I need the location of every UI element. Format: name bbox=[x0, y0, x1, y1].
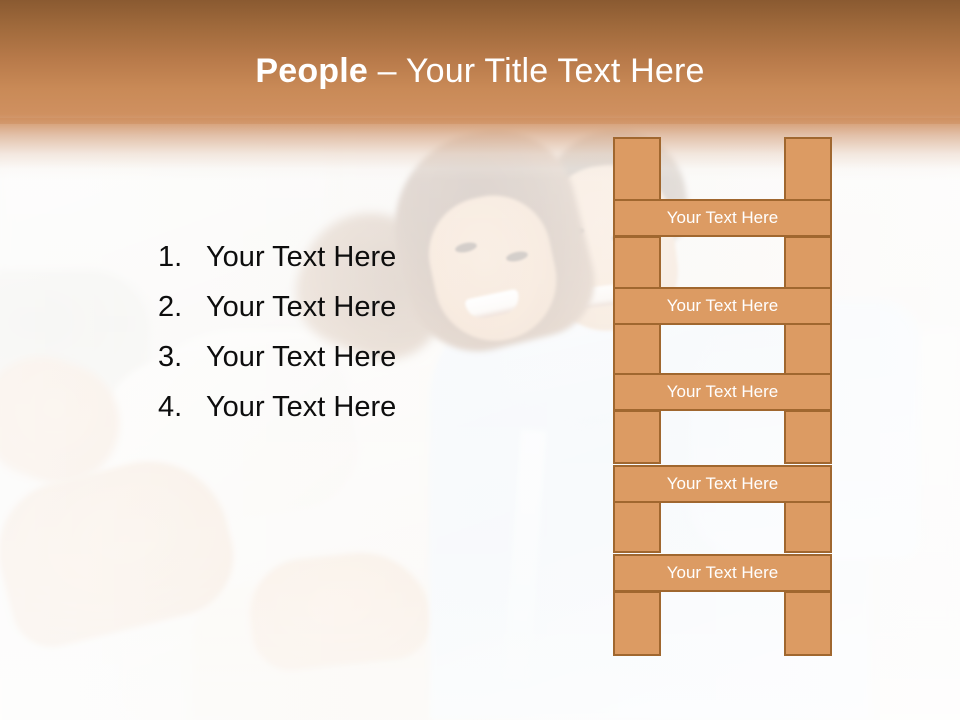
list-item-number: 2. bbox=[158, 282, 206, 332]
list-item[interactable]: 2. Your Text Here bbox=[158, 282, 488, 332]
page-title: People – Your Title Text Here bbox=[0, 50, 960, 92]
ladder-rung[interactable]: Your Text Here bbox=[613, 287, 832, 325]
ladder-rung-label: Your Text Here bbox=[667, 296, 779, 316]
ladder-rail-segment bbox=[784, 137, 832, 201]
list-item-label: Your Text Here bbox=[206, 282, 396, 332]
ladder-rung-label: Your Text Here bbox=[667, 382, 779, 402]
list-item-label: Your Text Here bbox=[206, 232, 396, 282]
ladder-diagram: Your Text Here Your Text Here Your Text … bbox=[613, 137, 832, 656]
ladder-rail-segment bbox=[613, 591, 661, 656]
slide-canvas: People – Your Title Text Here 1. Your Te… bbox=[0, 0, 960, 720]
page-title-regular: Your Title Text Here bbox=[406, 52, 705, 90]
ladder-rung[interactable]: Your Text Here bbox=[613, 465, 832, 503]
list-item-number: 4. bbox=[158, 382, 206, 432]
ladder-rail-segment bbox=[784, 410, 832, 464]
numbered-list: 1. Your Text Here 2. Your Text Here 3. Y… bbox=[158, 232, 488, 432]
page-title-separator: – bbox=[368, 52, 406, 90]
ladder-rail-segment bbox=[613, 410, 661, 464]
ladder-rail-segment bbox=[613, 501, 661, 553]
list-item-label: Your Text Here bbox=[206, 332, 396, 382]
ladder-rung-label: Your Text Here bbox=[667, 208, 779, 228]
list-item[interactable]: 1. Your Text Here bbox=[158, 232, 488, 282]
list-item[interactable]: 4. Your Text Here bbox=[158, 382, 488, 432]
ladder-rung-label: Your Text Here bbox=[667, 474, 779, 494]
list-item-number: 3. bbox=[158, 332, 206, 382]
ladder-rail-segment bbox=[784, 501, 832, 553]
list-item-number: 1. bbox=[158, 232, 206, 282]
list-item[interactable]: 3. Your Text Here bbox=[158, 332, 488, 382]
ladder-rail-segment bbox=[784, 236, 832, 289]
ladder-rail-segment bbox=[613, 137, 661, 201]
ladder-rail-segment bbox=[613, 236, 661, 289]
ladder-rung[interactable]: Your Text Here bbox=[613, 554, 832, 592]
ladder-rail-segment bbox=[613, 323, 661, 375]
ladder-rung[interactable]: Your Text Here bbox=[613, 373, 832, 411]
page-title-bold: People bbox=[255, 52, 368, 90]
list-item-label: Your Text Here bbox=[206, 382, 396, 432]
ladder-rail-segment bbox=[784, 591, 832, 656]
ladder-rung-label: Your Text Here bbox=[667, 563, 779, 583]
ladder-rung[interactable]: Your Text Here bbox=[613, 199, 832, 237]
ladder-rail-segment bbox=[784, 323, 832, 375]
